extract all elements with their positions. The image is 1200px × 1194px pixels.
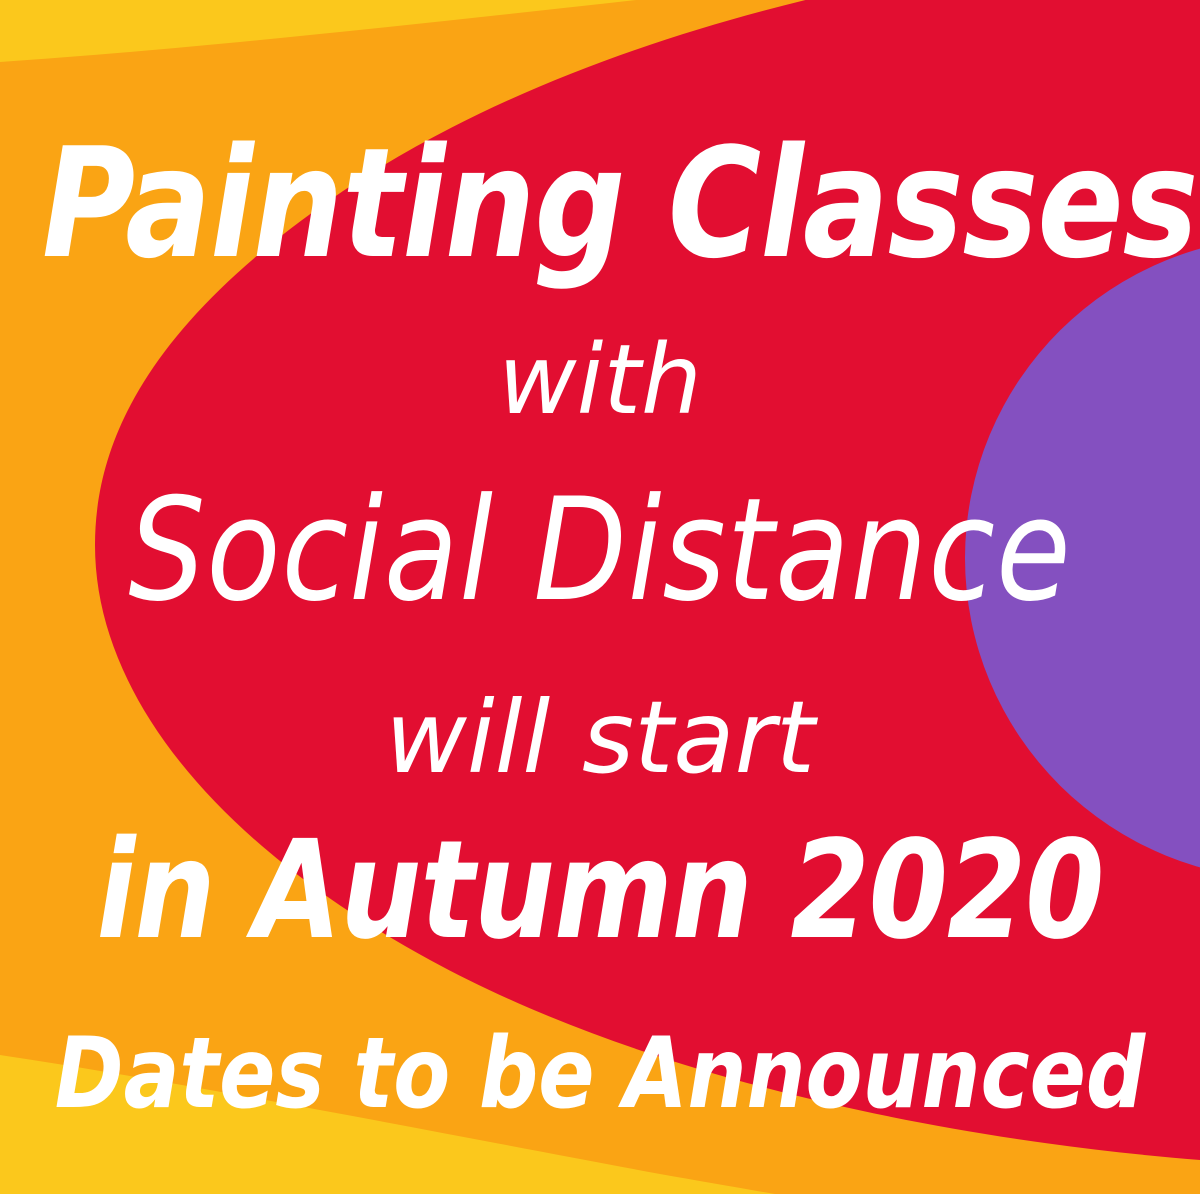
poster-headline: Painting Classes (42, 128, 1158, 280)
poster-subline-dates-to-be-announced: Dates to be Announced (36, 1025, 1164, 1123)
poster-canvas: Painting Classes with Social Distance wi… (0, 0, 1200, 1194)
poster-subline-social-distance: Social Distance (30, 480, 1170, 622)
poster-text-layer: Painting Classes with Social Distance wi… (0, 0, 1200, 1194)
poster-subline-will-start: will start (0, 688, 1200, 788)
poster-subline-with: with (0, 332, 1200, 428)
poster-subline-autumn-2020: in Autumn 2020 (42, 823, 1158, 959)
